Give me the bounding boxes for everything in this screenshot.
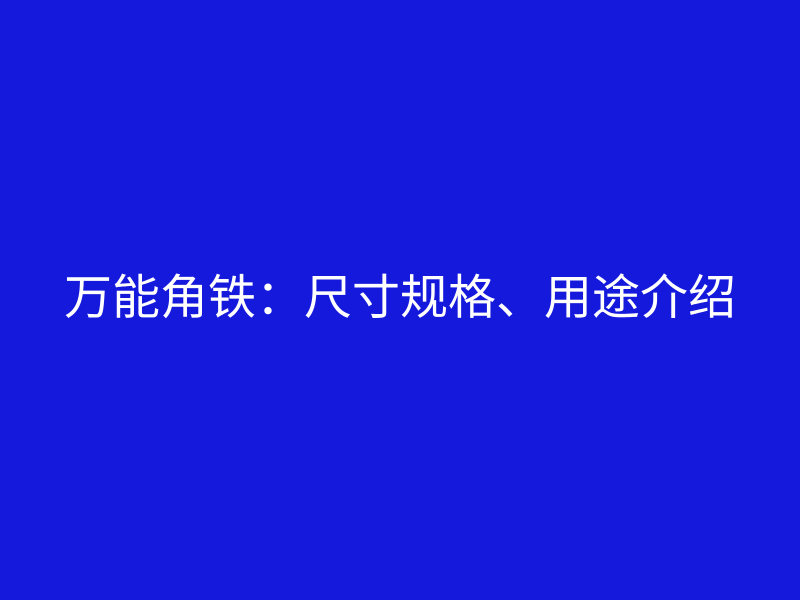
banner-canvas: 万能角铁：尺寸规格、用途介绍: [0, 0, 800, 600]
page-title: 万能角铁：尺寸规格、用途介绍: [64, 271, 736, 326]
headline-container: 万能角铁：尺寸规格、用途介绍: [0, 0, 800, 600]
